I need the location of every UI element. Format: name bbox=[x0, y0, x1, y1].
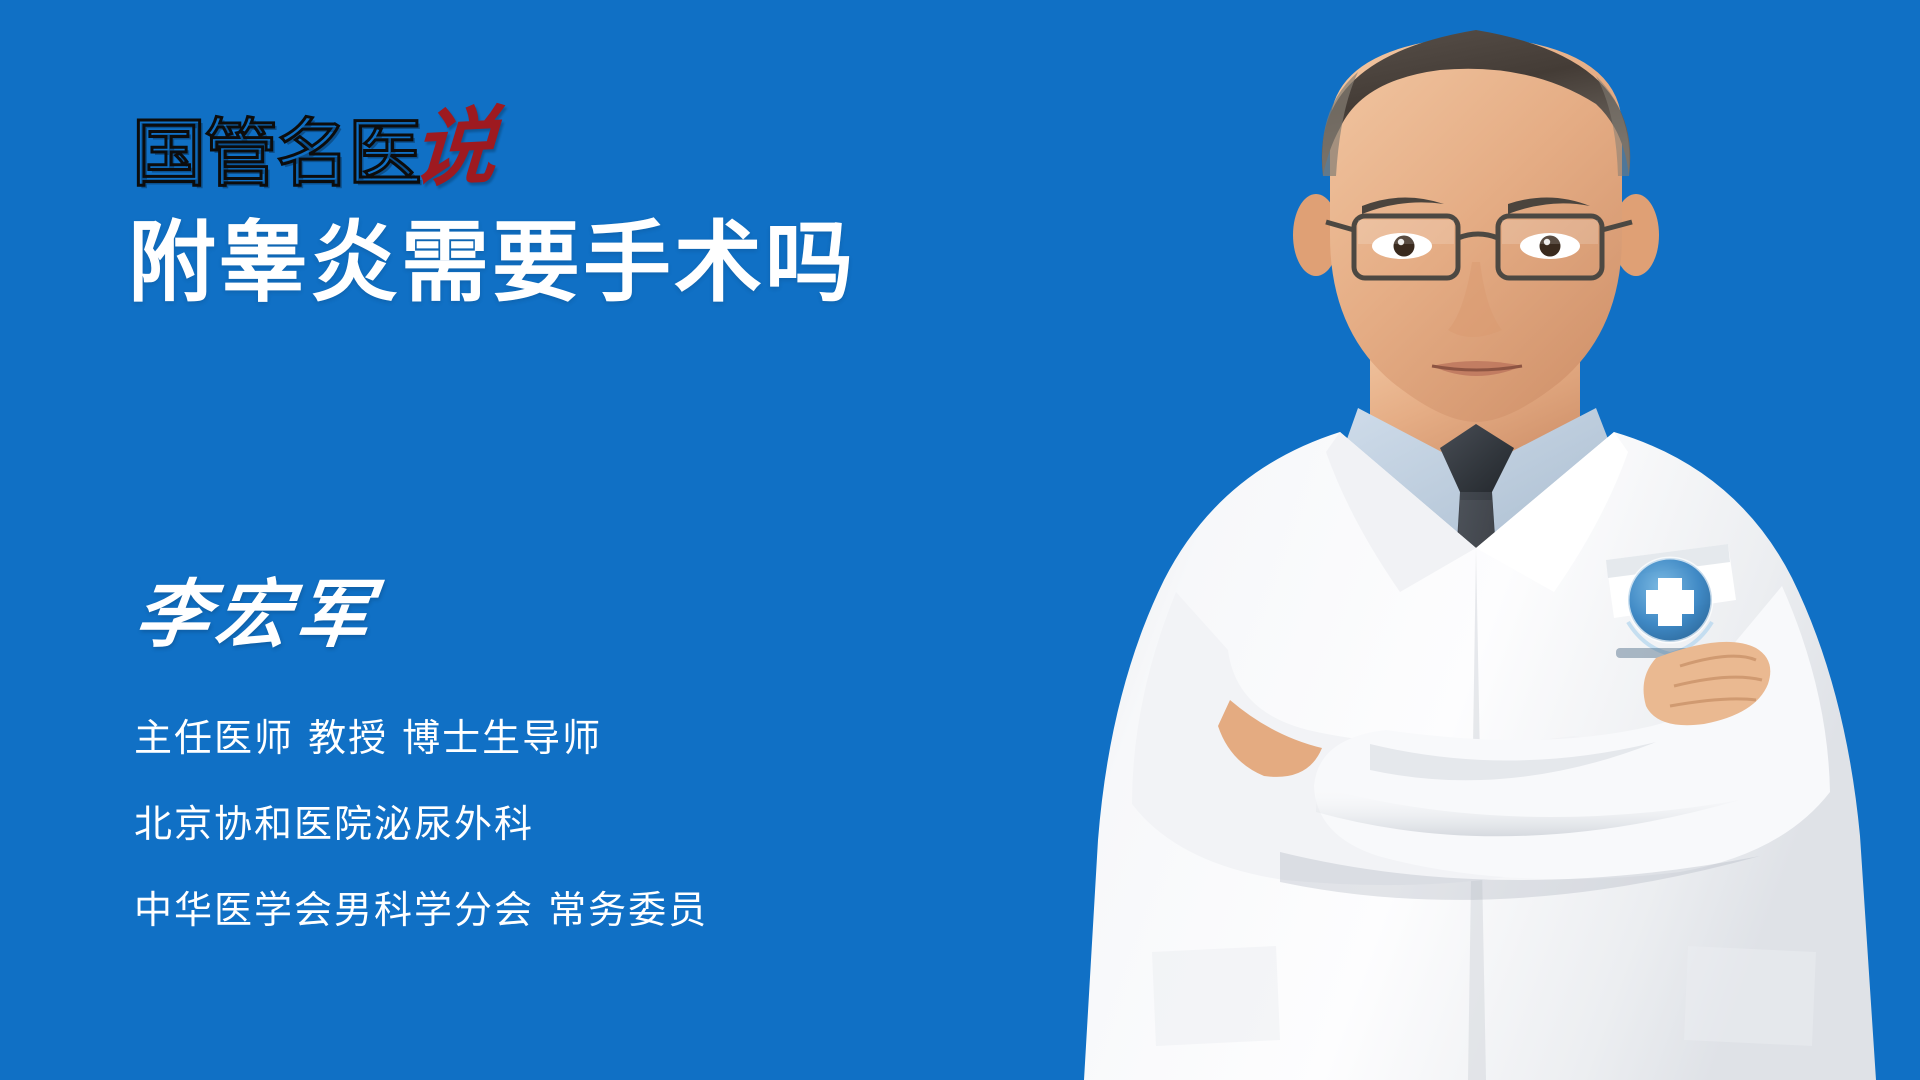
credential-line-1: 主任医师 教授 博士生导师 bbox=[134, 718, 708, 760]
doctor-portrait bbox=[1040, 0, 1920, 1080]
hospital-badge-icon bbox=[1628, 558, 1712, 654]
speaker-name: 李宏军 bbox=[131, 578, 380, 652]
episode-title: 附睾炎需要手术吗 bbox=[128, 216, 856, 309]
head bbox=[1293, 30, 1659, 422]
program-logo: 国管名医 说 bbox=[132, 108, 494, 194]
credential-line-3: 中华医学会男科学分会 常务委员 bbox=[134, 890, 708, 932]
info-panel: 国管名医 说 附睾炎需要手术吗 李宏军 主任医师 教授 博士生导师 北京协和医院… bbox=[0, 0, 1050, 1080]
video-title-card: 国管名医 说 附睾炎需要手术吗 李宏军 主任医师 教授 博士生导师 北京协和医院… bbox=[0, 0, 1920, 1080]
program-logo-accent-text: 说 bbox=[410, 104, 499, 192]
speaker-credentials: 主任医师 教授 博士生导师 北京协和医院泌尿外科 中华医学会男科学分会 常务委员 bbox=[134, 718, 708, 931]
credential-line-2: 北京协和医院泌尿外科 bbox=[134, 804, 708, 846]
program-logo-main-text: 国管名医 bbox=[132, 117, 420, 191]
